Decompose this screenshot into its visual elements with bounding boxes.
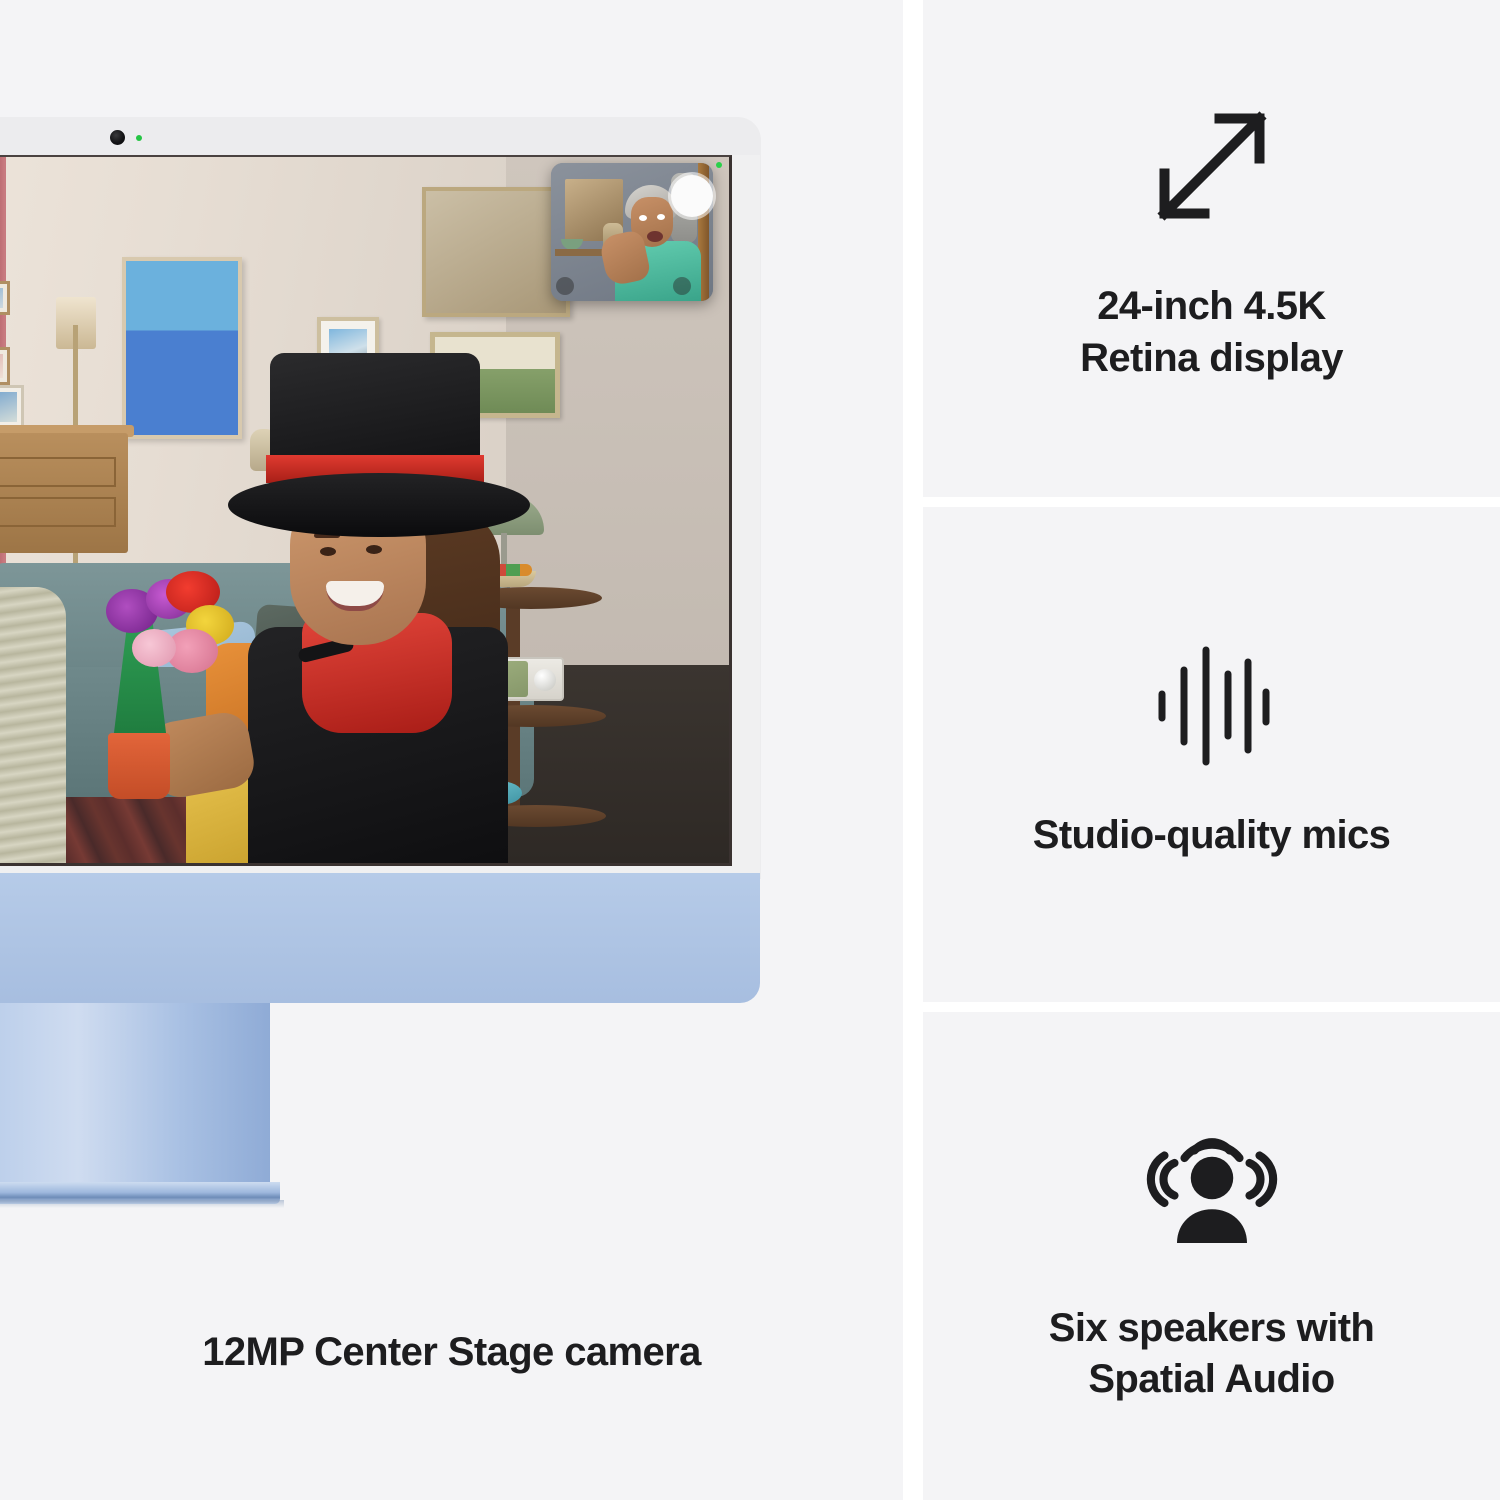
radio-knob — [534, 669, 556, 691]
flower-lightpink — [132, 629, 176, 667]
spatial-audio-person-icon — [1137, 1113, 1287, 1263]
feature-card-spatial-audio: Six speakers with Spatial Audio — [923, 1012, 1500, 1500]
imac-display-housing — [0, 118, 760, 878]
diagonal-arrows-icon — [1137, 91, 1287, 241]
feature-title-spatial-audio: Six speakers with Spatial Audio — [1049, 1303, 1375, 1405]
photo-frame — [0, 385, 24, 429]
feature-title-studio-mics: Studio-quality mics — [1033, 810, 1391, 861]
pip-person-mouth — [647, 231, 663, 242]
top-hat-brim — [228, 473, 530, 537]
retina-title-line2: Retina display — [1080, 333, 1343, 384]
imac-stand-shadow — [0, 1200, 284, 1208]
spatial-title-line2: Spatial Audio — [1049, 1354, 1375, 1405]
retina-title-line1: 24-inch 4.5K — [1080, 281, 1343, 332]
imac-device — [0, 118, 760, 878]
camera-dot-icon — [110, 130, 125, 145]
imac-screen — [0, 155, 732, 866]
girl-eye-left — [320, 547, 336, 556]
pip-recording-dot-icon — [716, 162, 722, 168]
camera-shutter-icon[interactable] — [671, 175, 713, 217]
feature-card-studio-mics: Studio-quality mics — [923, 507, 1500, 1002]
camera-caption: 12MP Center Stage camera — [0, 1330, 903, 1375]
mics-title-line1: Studio-quality mics — [1033, 810, 1391, 861]
dresser-drawer-two — [0, 497, 116, 527]
camera-led-indicator-icon — [136, 135, 142, 141]
tiny-frame-two — [0, 347, 10, 385]
blue-abstract-painting — [122, 257, 242, 439]
audio-waveform-icon — [1152, 642, 1272, 770]
product-feature-page: 12MP Center Stage camera 24-inch 4.5K Re… — [0, 0, 1500, 1500]
feature-cards-column: 24-inch 4.5K Retina display — [923, 0, 1500, 1500]
pip-person-eye-left — [639, 215, 647, 221]
woman-cardigan-right — [0, 587, 66, 863]
camera-feature-panel: 12MP Center Stage camera — [0, 0, 903, 1500]
dresser-drawer-one — [0, 457, 116, 487]
spatial-title-line1: Six speakers with — [1049, 1303, 1375, 1354]
pip-person-eye-right — [657, 214, 665, 220]
wooden-dresser — [0, 433, 128, 553]
imac-stand-neck — [0, 1003, 270, 1189]
feature-card-retina-display: 24-inch 4.5K Retina display — [923, 0, 1500, 497]
collage-artwork — [422, 187, 570, 317]
flower-pot — [108, 733, 170, 799]
facetime-video-scene — [0, 157, 729, 863]
girl-eye-right — [366, 545, 382, 554]
feature-title-retina-display: 24-inch 4.5K Retina display — [1080, 281, 1343, 383]
tiny-frame-one — [0, 281, 10, 315]
pip-control-right-icon[interactable] — [673, 277, 691, 295]
pip-control-left-icon[interactable] — [556, 277, 574, 295]
imac-chin — [0, 873, 760, 1003]
